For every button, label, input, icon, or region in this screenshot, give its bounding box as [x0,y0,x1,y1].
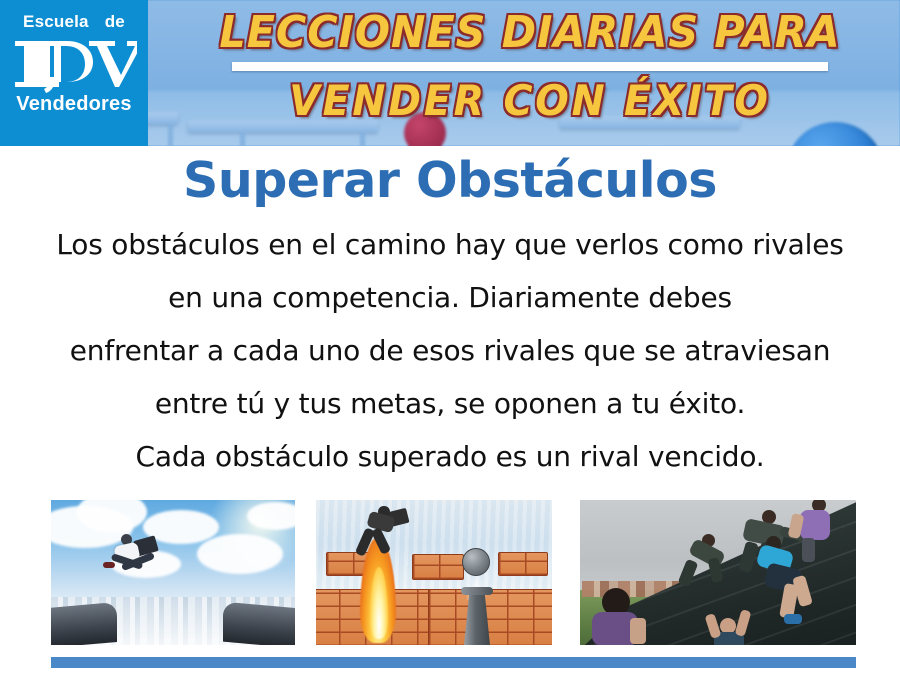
cannonball-icon [462,548,490,576]
photo-obstacle-race-wall [580,500,856,645]
cliff-right [223,602,295,645]
body-line-2: en una competencia. Diariamente debes [30,271,870,324]
banner-title-line-2: VENDER CON ÉXITO [182,76,878,126]
logo-word-escuela: Escuela [23,12,89,31]
brand-logo[interactable]: Escuelade Vendedores [0,0,148,146]
logo-monogram-edv [0,33,148,95]
brick-platform [498,552,548,576]
cliff-left [51,602,117,645]
cannon-rim [461,587,493,595]
slide-canvas: LECCIONES DIARIAS PARA VENDER CON ÉXITO … [0,0,900,700]
brick-platform [412,554,464,580]
body-line-3: enfrentar a cada uno de esos rivales que… [30,324,870,377]
body-line-5: Cada obstáculo superado es un rival venc… [30,430,870,483]
logo-top-line: Escuelade [0,12,148,32]
footer-accent-bar [51,657,856,668]
logo-word-de: de [105,12,125,31]
body-line-1: Los obstáculos en el camino hay que verl… [30,218,870,271]
page-title: Superar Obstáculos [0,152,900,210]
photo-businessman-leap [51,500,295,645]
banner-title-divider [232,62,828,71]
body-paragraph: Los obstáculos en el camino hay que verl… [30,218,870,483]
banner-title: LECCIONES DIARIAS PARA VENDER CON ÉXITO [160,8,900,126]
banner-title-line-1: LECCIONES DIARIAS PARA [182,8,878,58]
logo-bottom-line: Vendedores [0,93,148,116]
body-line-4: entre tú y tus metas, se oponen a tu éxi… [30,377,870,430]
brick-wall-base-right [428,589,552,645]
photo-illustrated-obstacle-course [316,500,552,645]
cloud-icon [197,534,283,574]
